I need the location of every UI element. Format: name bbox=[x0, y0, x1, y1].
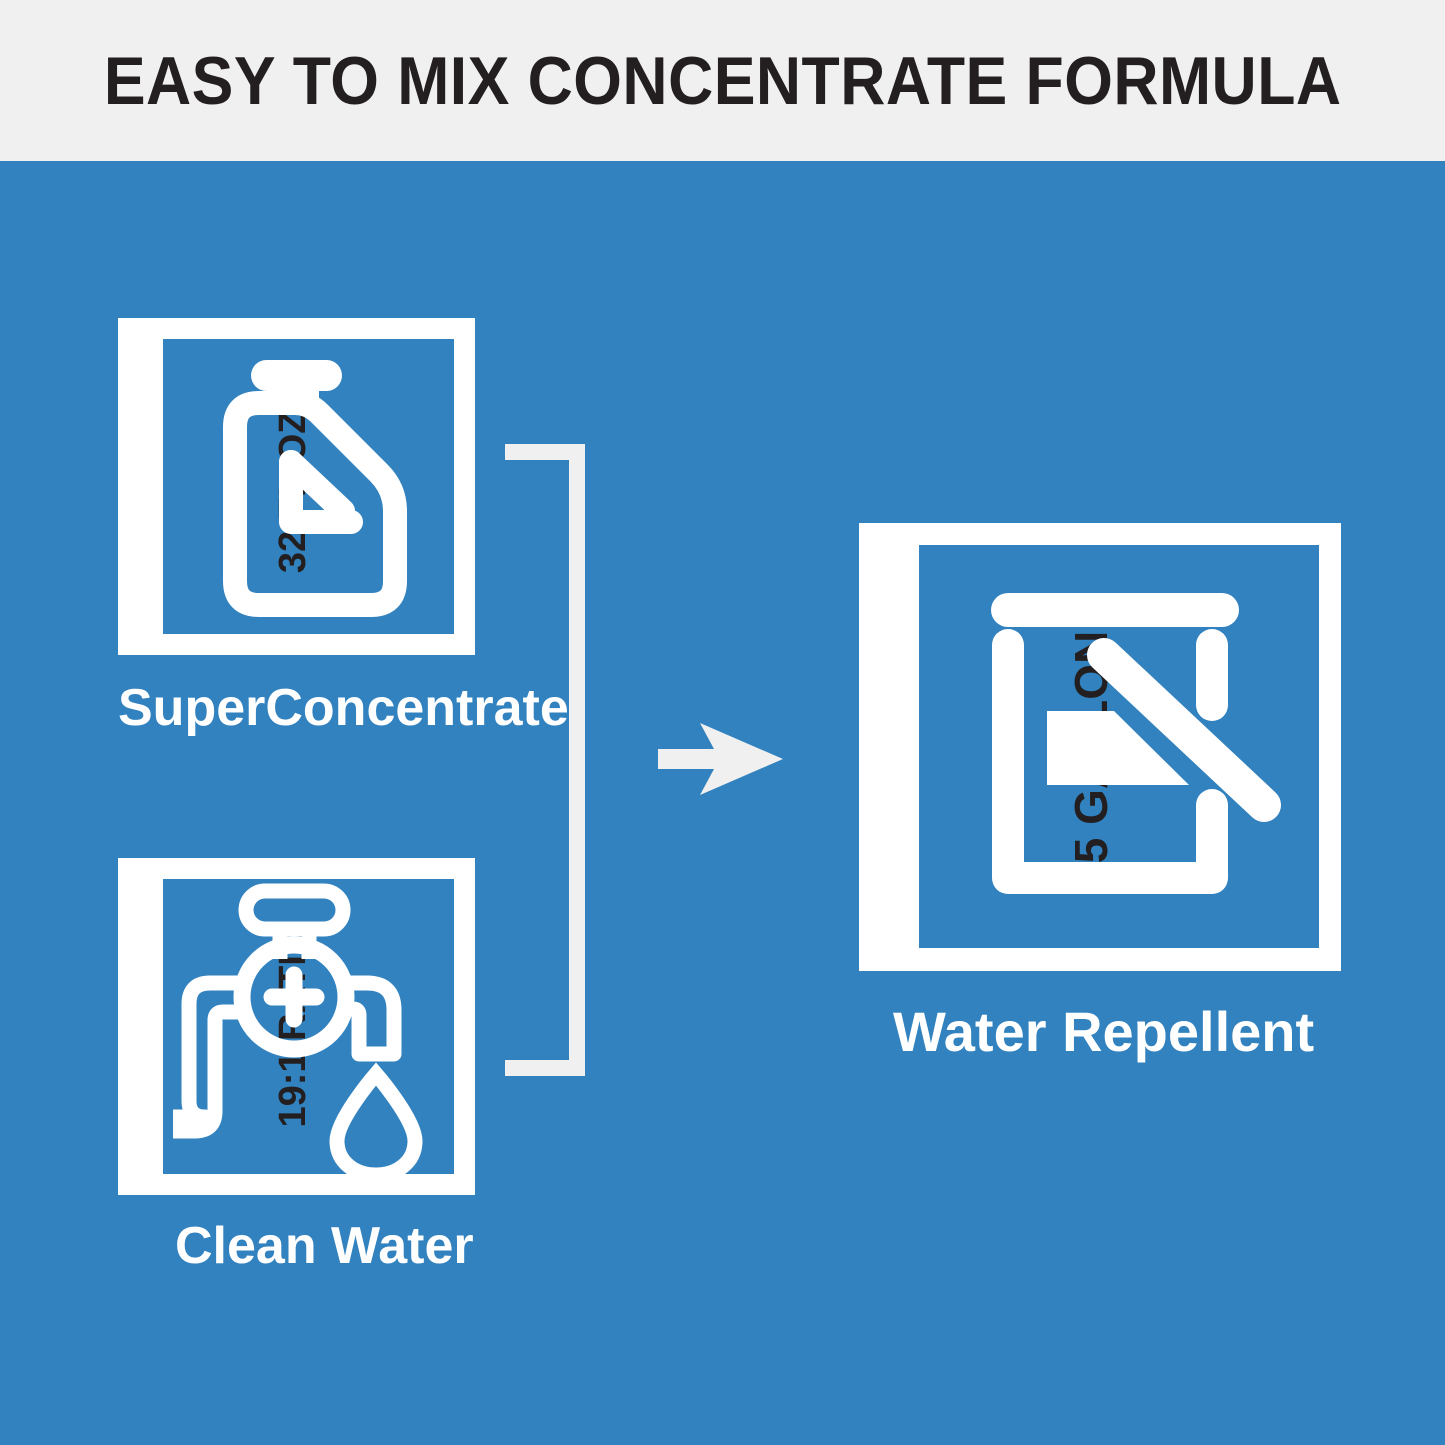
caption-water-repellent: Water Repellent bbox=[893, 1004, 1314, 1060]
page-title: EASY TO MIX CONCENTRATE FORMULA bbox=[104, 47, 1342, 115]
card-bucket: 5 GALLON bbox=[859, 523, 1341, 971]
right-brace-bracket bbox=[505, 444, 585, 1076]
arrow-right-icon bbox=[658, 723, 783, 795]
infographic-poster: EASY TO MIX CONCENTRATE FORMULA 32 FL.OZ… bbox=[0, 0, 1445, 1445]
caption-clean-water: Clean Water bbox=[175, 1220, 474, 1272]
header-band: EASY TO MIX CONCENTRATE FORMULA bbox=[0, 0, 1445, 161]
bucket-icon bbox=[959, 583, 1289, 913]
content-stage: 32 FL.OZ. SuperConcentrate 19 bbox=[0, 161, 1445, 1445]
caption-superconcentrate: SuperConcentrate bbox=[118, 682, 569, 734]
card-water: 19:1 RATIO bbox=[118, 858, 475, 1195]
card-concentrate: 32 FL.OZ. bbox=[118, 318, 475, 655]
jug-icon bbox=[163, 339, 454, 634]
faucet-icon bbox=[163, 879, 454, 1174]
